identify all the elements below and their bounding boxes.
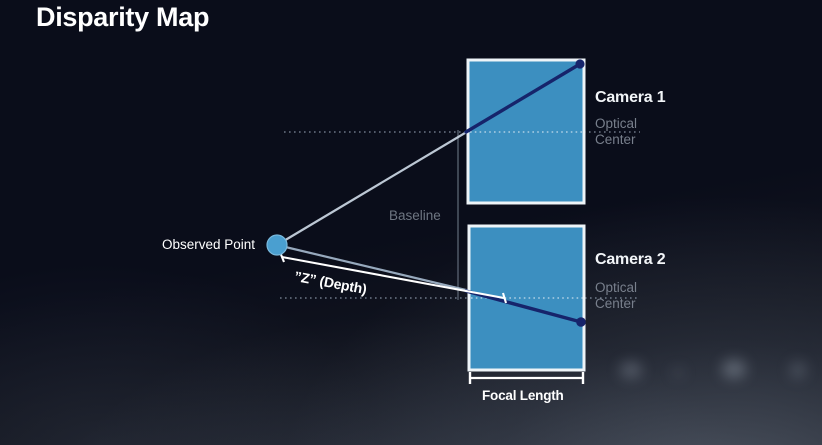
camera-1-optical-center-line1: Optical xyxy=(595,116,637,132)
camera-2-optical-center-line1: Optical xyxy=(595,280,637,296)
focal-length-measurement-bar xyxy=(469,372,584,384)
camera-2-optical-center-line2: Center xyxy=(595,296,636,312)
camera-1-optical-center-line2: Center xyxy=(595,132,636,148)
ray-to-camera-1-outer xyxy=(277,130,470,245)
observed-point-dot[interactable] xyxy=(267,235,287,255)
camera-2-title: Camera 2 xyxy=(595,251,665,269)
camera-1-projection-dot xyxy=(575,59,584,68)
camera-1-title: Camera 1 xyxy=(595,89,665,107)
camera-2-projection-dot xyxy=(576,317,586,327)
slide-canvas: Disparity Map Observed Point Camera 1 Op… xyxy=(0,0,822,445)
baseline-label: Baseline xyxy=(389,208,441,223)
focal-length-label: Focal Length xyxy=(482,388,564,403)
page-title: Disparity Map xyxy=(36,2,209,33)
observed-point-label: Observed Point xyxy=(162,237,255,252)
